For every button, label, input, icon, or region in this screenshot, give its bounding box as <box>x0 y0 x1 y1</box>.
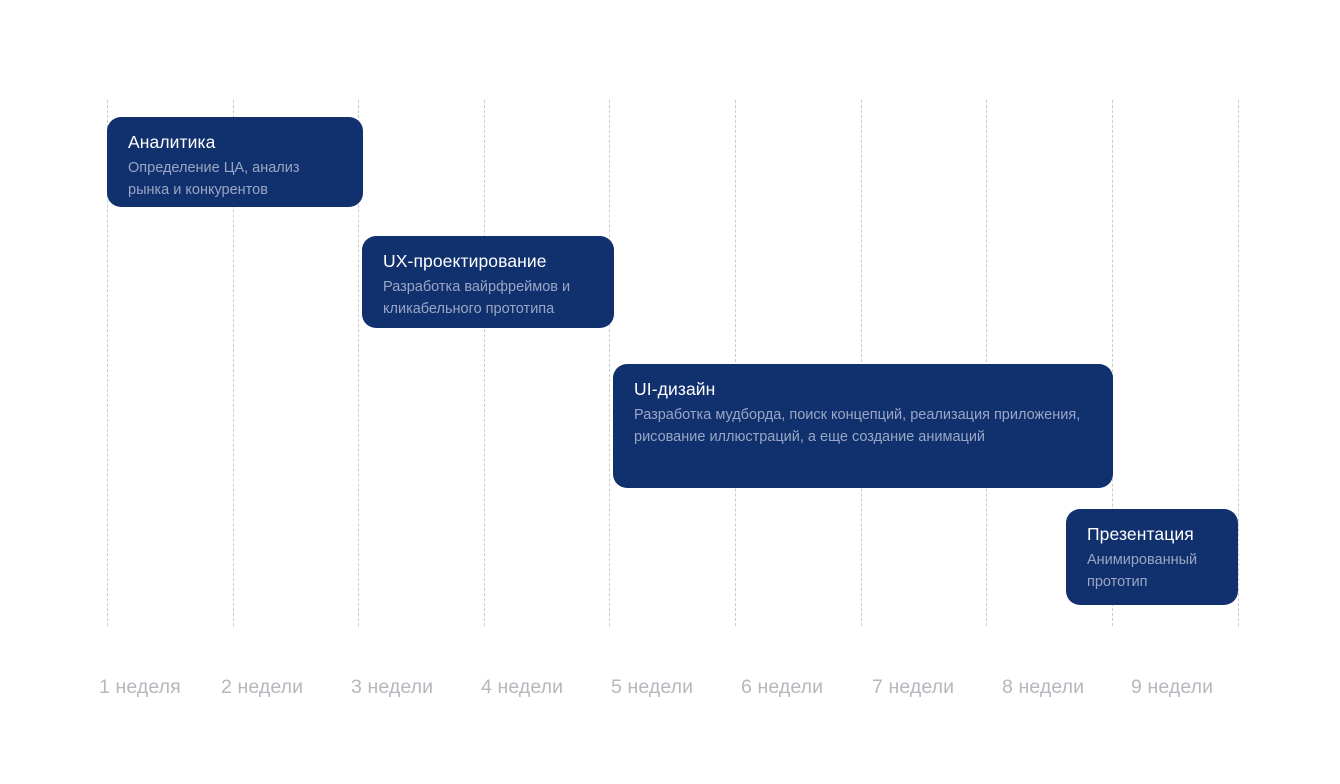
axis-tick-label: 1 неделя <box>99 672 181 702</box>
axis-tick-label: 7 недели <box>872 672 954 702</box>
gantt-bar-description: Разработка мудборда, поиск концепций, ре… <box>634 404 1093 448</box>
gantt-bar-description: Разработка вайрфреймов и кликабельного п… <box>383 276 594 320</box>
gantt-chart: Аналитика Определение ЦА, анализ рынка и… <box>0 0 1340 784</box>
gantt-bar-description: Определение ЦА, анализ рынка и конкурент… <box>128 157 343 201</box>
gantt-bar-title: UI-дизайн <box>634 378 1093 400</box>
axis-tick-label: 6 недели <box>741 672 823 702</box>
gridline <box>609 100 610 626</box>
axis-tick-label: 8 недели <box>1002 672 1084 702</box>
axis-tick-label: 5 недели <box>611 672 693 702</box>
gantt-bar-ui-dizayn[interactable]: UI-дизайн Разработка мудборда, поиск кон… <box>613 364 1113 488</box>
gridline <box>484 100 485 626</box>
gridline <box>1238 100 1239 626</box>
gantt-bar-title: Аналитика <box>128 131 343 153</box>
gantt-bar-ux-proektirovanie[interactable]: UX-проектирование Разработка вайрфреймов… <box>362 236 614 328</box>
gridline <box>986 100 987 626</box>
gantt-bar-analitika[interactable]: Аналитика Определение ЦА, анализ рынка и… <box>107 117 363 207</box>
gantt-bar-title: Презентация <box>1087 523 1218 545</box>
axis-tick-label: 2 недели <box>221 672 303 702</box>
gridline <box>861 100 862 626</box>
gantt-bar-description: Анимированный прототип <box>1087 549 1218 593</box>
gantt-bar-prezentaciya[interactable]: Презентация Анимированный прототип <box>1066 509 1238 605</box>
axis-tick-label: 4 недели <box>481 672 563 702</box>
axis-tick-label: 9 недели <box>1131 672 1213 702</box>
axis-tick-label: 3 недели <box>351 672 433 702</box>
gantt-plot-area: Аналитика Определение ЦА, анализ рынка и… <box>107 100 1238 626</box>
gridline <box>735 100 736 626</box>
gantt-bar-title: UX-проектирование <box>383 250 594 272</box>
gantt-axis-labels: 1 неделя 2 недели 3 недели 4 недели 5 не… <box>0 672 1340 712</box>
